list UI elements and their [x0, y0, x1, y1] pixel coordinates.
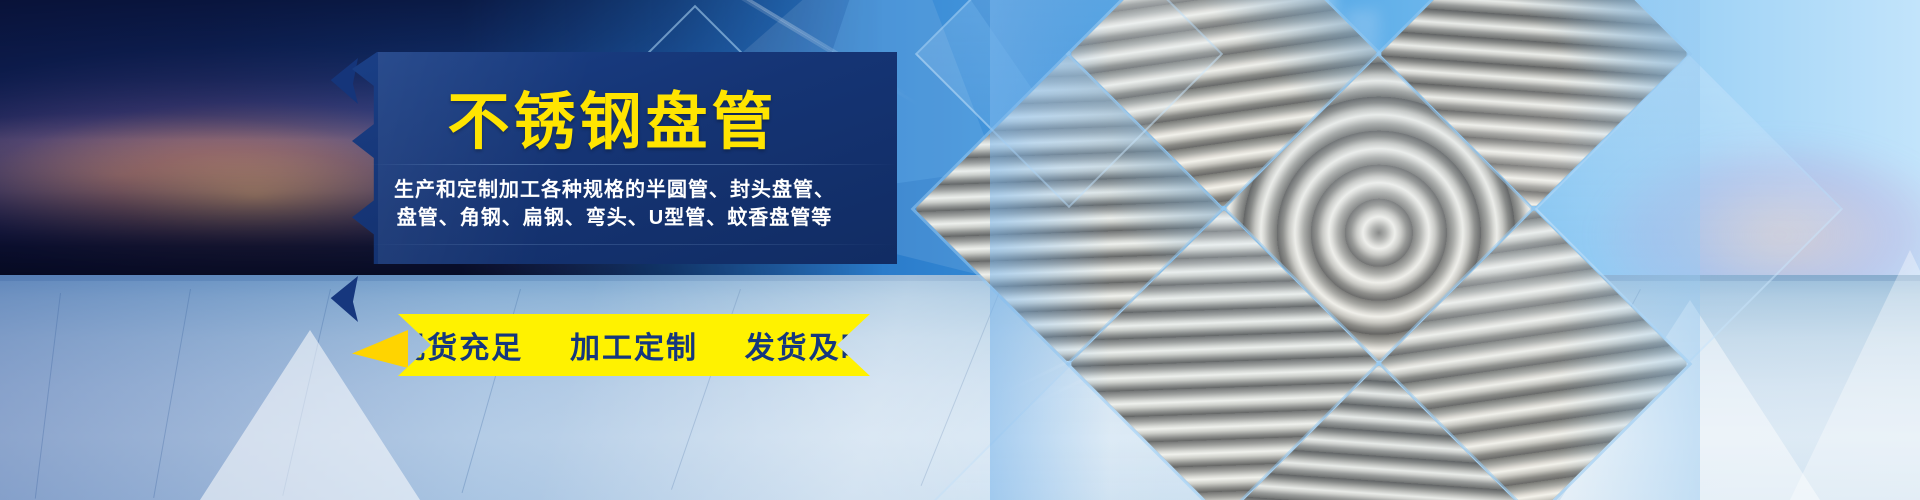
panel-divider [368, 164, 897, 165]
banner-root: 不锈钢盘管 生产和定制加工各种规格的半圆管、封头盘管、 盘管、角钢、扁钢、弯头、… [0, 0, 1920, 500]
page-title: 不锈钢盘管 [352, 92, 873, 154]
subtitle-line-1: 生产和定制加工各种规格的半圆管、封头盘管、 [352, 176, 877, 205]
photo-collage [1020, 0, 1660, 500]
ribbon-text: 现货充足 加工定制 发货及时 [395, 323, 872, 367]
decor-triangle [1790, 250, 1920, 500]
feature-ribbon: 现货充足 加工定制 发货及时 [398, 314, 870, 376]
headline-panel: 不锈钢盘管 生产和定制加工各种规格的半圆管、封头盘管、 盘管、角钢、扁钢、弯头、… [352, 52, 897, 264]
subtitle-line-2: 盘管、角钢、扁钢、弯头、U型管、蚊香盘管等 [352, 204, 877, 233]
ribbon-item-custom: 加工定制 [570, 332, 698, 365]
panel-divider [368, 244, 897, 245]
